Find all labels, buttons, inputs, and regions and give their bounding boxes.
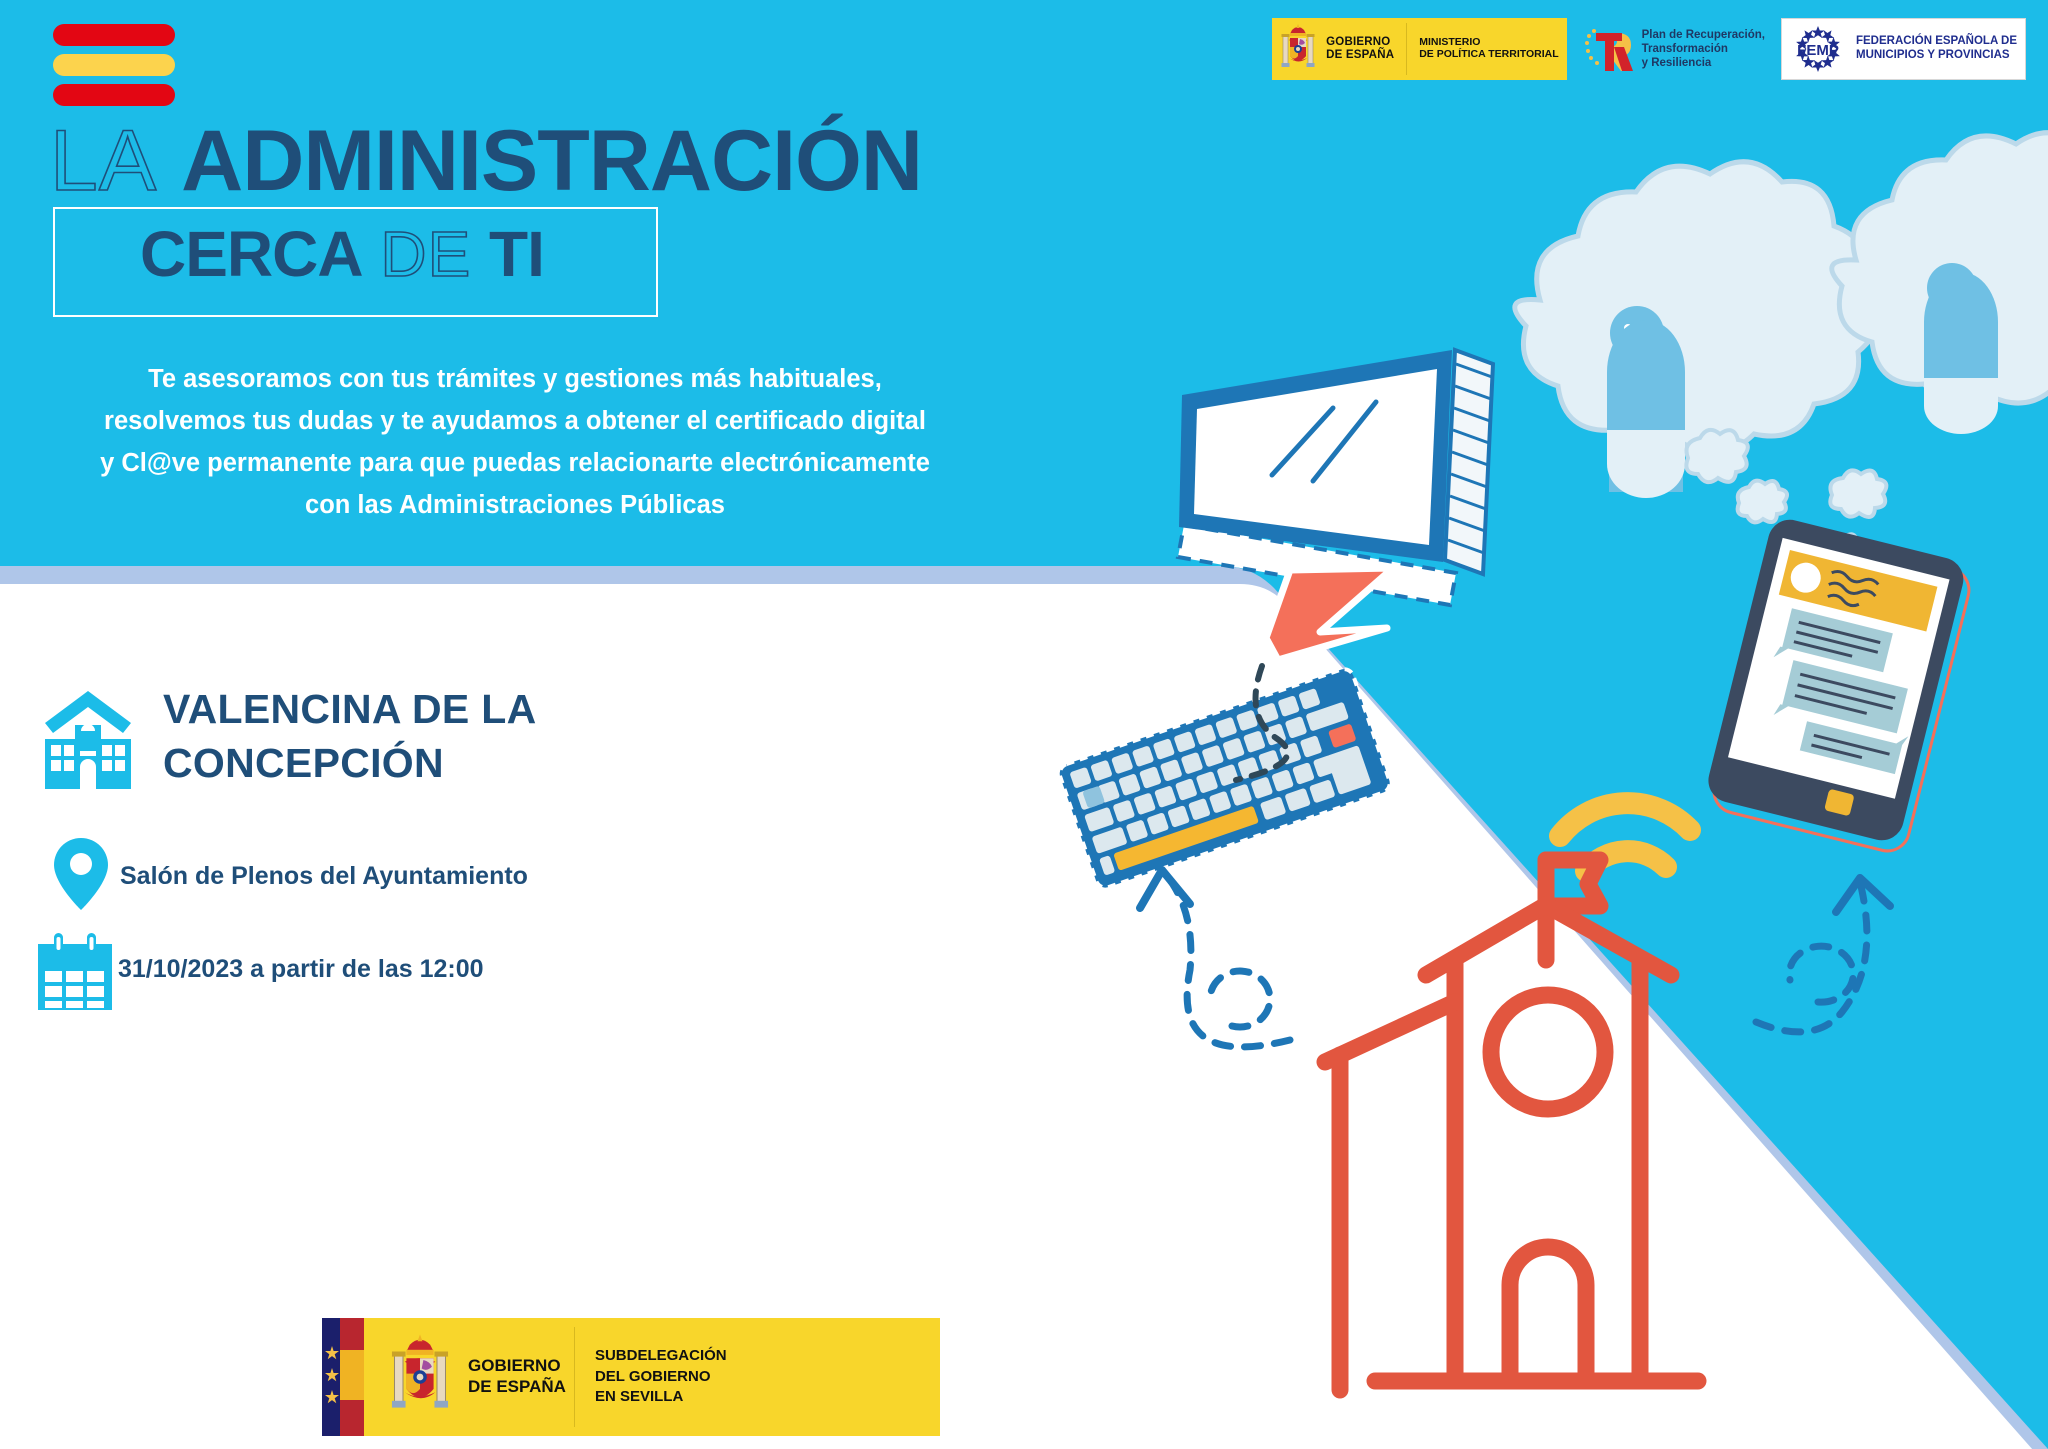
title-word-administracion: ADMINISTRACIÓN [181,113,922,209]
thought-cloud-person-left [1515,162,1878,523]
flag-strip-red-bottom [340,1400,364,1436]
footer-gobierno-line1: GOBIERNO [468,1356,566,1377]
gobierno-line1: GOBIERNO [1326,36,1394,49]
flag-strip-red-top [340,1318,364,1350]
logo-divider [1406,23,1407,75]
footer-logo-divider [574,1327,575,1427]
municipality-name: VALENCINA DE LA CONCEPCIÓN [163,682,537,790]
footer-coat-of-arms-icon [386,1331,454,1423]
header-logos: GOBIERNO DE ESPAÑA MINISTERIO DE POLÍTIC… [1272,18,2026,80]
subtitle-word-ti: TI [489,218,544,290]
spain-coat-of-arms-icon [1278,22,1318,76]
footer-gobierno-line2: DE ESPAÑA [468,1377,566,1398]
event-datetime: 31/10/2023 a partir de las 12:00 [118,955,484,984]
subtitle: CERCA DE TI [140,222,544,286]
tablet-chat-illustration [1702,515,1976,855]
gobierno-line2: DE ESPAÑA [1326,49,1394,62]
calendar-icon [33,930,117,1014]
svg-text:FEMP: FEMP [1797,42,1839,59]
gobierno-ministerio-logo: GOBIERNO DE ESPAÑA MINISTERIO DE POLÍTIC… [1272,18,1566,80]
keyboard-illustration [1057,666,1392,890]
flag-bar-red-top [53,24,175,46]
page-title: LA ADMINISTRACIÓN [50,118,922,204]
prtr-line1: Plan de Recuperación, [1642,28,1765,42]
town-hall-outline [1325,860,1698,1390]
femp-logo: FEMP FEDERACIÓN ESPAÑOLA DE MUNICIPIOS Y… [1781,18,2026,80]
town-hall-icon [33,683,143,791]
municipality-line2: CONCEPCIÓN [163,736,537,790]
flag-strip-yellow [340,1350,364,1400]
dashed-arrow-right [1756,878,1890,1032]
venue-label: Salón de Plenos del Ayuntamiento [120,862,528,891]
poster-canvas: GOBIERNO DE ESPAÑA MINISTERIO DE POLÍTIC… [0,0,2048,1449]
eu-stars-icon [324,1346,340,1408]
femp-line1: FEDERACIÓN ESPAÑOLA DE [1856,35,2017,49]
spain-flag-bars [53,24,175,114]
femp-star-circle-icon: FEMP [1786,22,1850,76]
body-paragraph: Te asesoramos con tus trámites y gestion… [100,358,930,526]
footer-sub-line2: DEL GOBIERNO [595,1367,727,1388]
footer-sub-line3: EN SEVILLA [595,1387,727,1408]
subtitle-word-cerca: CERCA [140,218,363,290]
eu-spain-flag-strip [322,1318,364,1436]
subtitle-word-de: DE [380,218,471,290]
flag-bar-red-bottom [53,84,175,106]
map-pin-icon [52,836,110,912]
ministerio-line2: DE POLÍTICA TERRITORIAL [1419,49,1558,61]
monitor-illustration [1178,350,1493,660]
title-word-la: LA [50,113,157,209]
prtr-mark-icon [1583,25,1635,73]
municipality-line1: VALENCINA DE LA [163,682,537,736]
footer-sub-line1: SUBDELEGACIÓN [595,1346,727,1367]
femp-line2: MUNICIPIOS Y PROVINCIAS [1856,49,2017,63]
dashed-arrow-left [1140,870,1290,1047]
prtr-logo: Plan de Recuperación, Transformación y R… [1583,18,1765,80]
flag-bar-yellow [53,54,175,76]
footer-logo-banner: GOBIERNO DE ESPAÑA SUBDELEGACIÓN DEL GOB… [322,1318,940,1436]
prtr-line3: y Resiliencia [1642,56,1765,70]
prtr-line2: Transformación [1642,42,1765,56]
